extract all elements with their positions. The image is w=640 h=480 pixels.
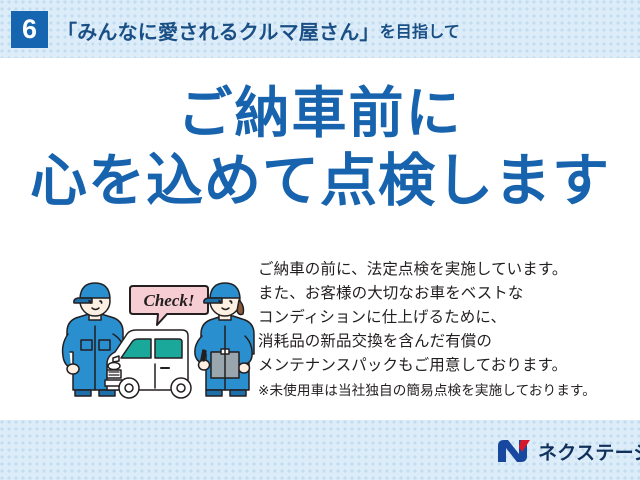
header-title-lead: 「みんなに愛されるクルマ屋さん」 <box>57 16 380 45</box>
body-line: また、お客様の大切なお車をベストな <box>258 282 630 306</box>
brand-logo: ネクステージ <box>497 437 640 465</box>
brand-logo-text: ネクステージ <box>538 438 640 465</box>
check-bubble-label: Check! <box>144 291 195 310</box>
body-line: コンディションに仕上げるために、 <box>258 306 630 330</box>
mechanics-inspection-illustration: Check! <box>55 268 265 403</box>
body-line: 消耗品の新品交換を含んだ有償の <box>258 330 630 354</box>
body-note: ※未使用車は当社独自の簡易点検を実施しております。 <box>258 381 630 401</box>
advertisement-page: 6 「みんなに愛されるクルマ屋さん」を目指して ご納車前に 心を込めて点検します… <box>0 0 640 480</box>
header-title-tail: を目指して <box>380 18 461 42</box>
headline-line-2: 心を込めて点検します <box>0 153 640 210</box>
section-number-badge: 6 <box>11 11 48 48</box>
body-line: メンテナンスパックもご用意しております。 <box>258 354 630 378</box>
body-copy: ご納車の前に、法定点検を実施しています。 また、お客様の大切なお車をベストな コ… <box>258 258 630 401</box>
page-title: ご納車前に 心を込めて点検します <box>0 86 640 210</box>
body-line: ご納車の前に、法定点検を実施しています。 <box>258 258 630 282</box>
nextage-n-mark-icon <box>497 439 531 463</box>
headline-line-1: ご納車前に <box>0 86 640 141</box>
female-mechanic-figure <box>195 283 254 396</box>
header-title: 「みんなに愛されるクルマ屋さん」を目指して <box>57 14 460 46</box>
